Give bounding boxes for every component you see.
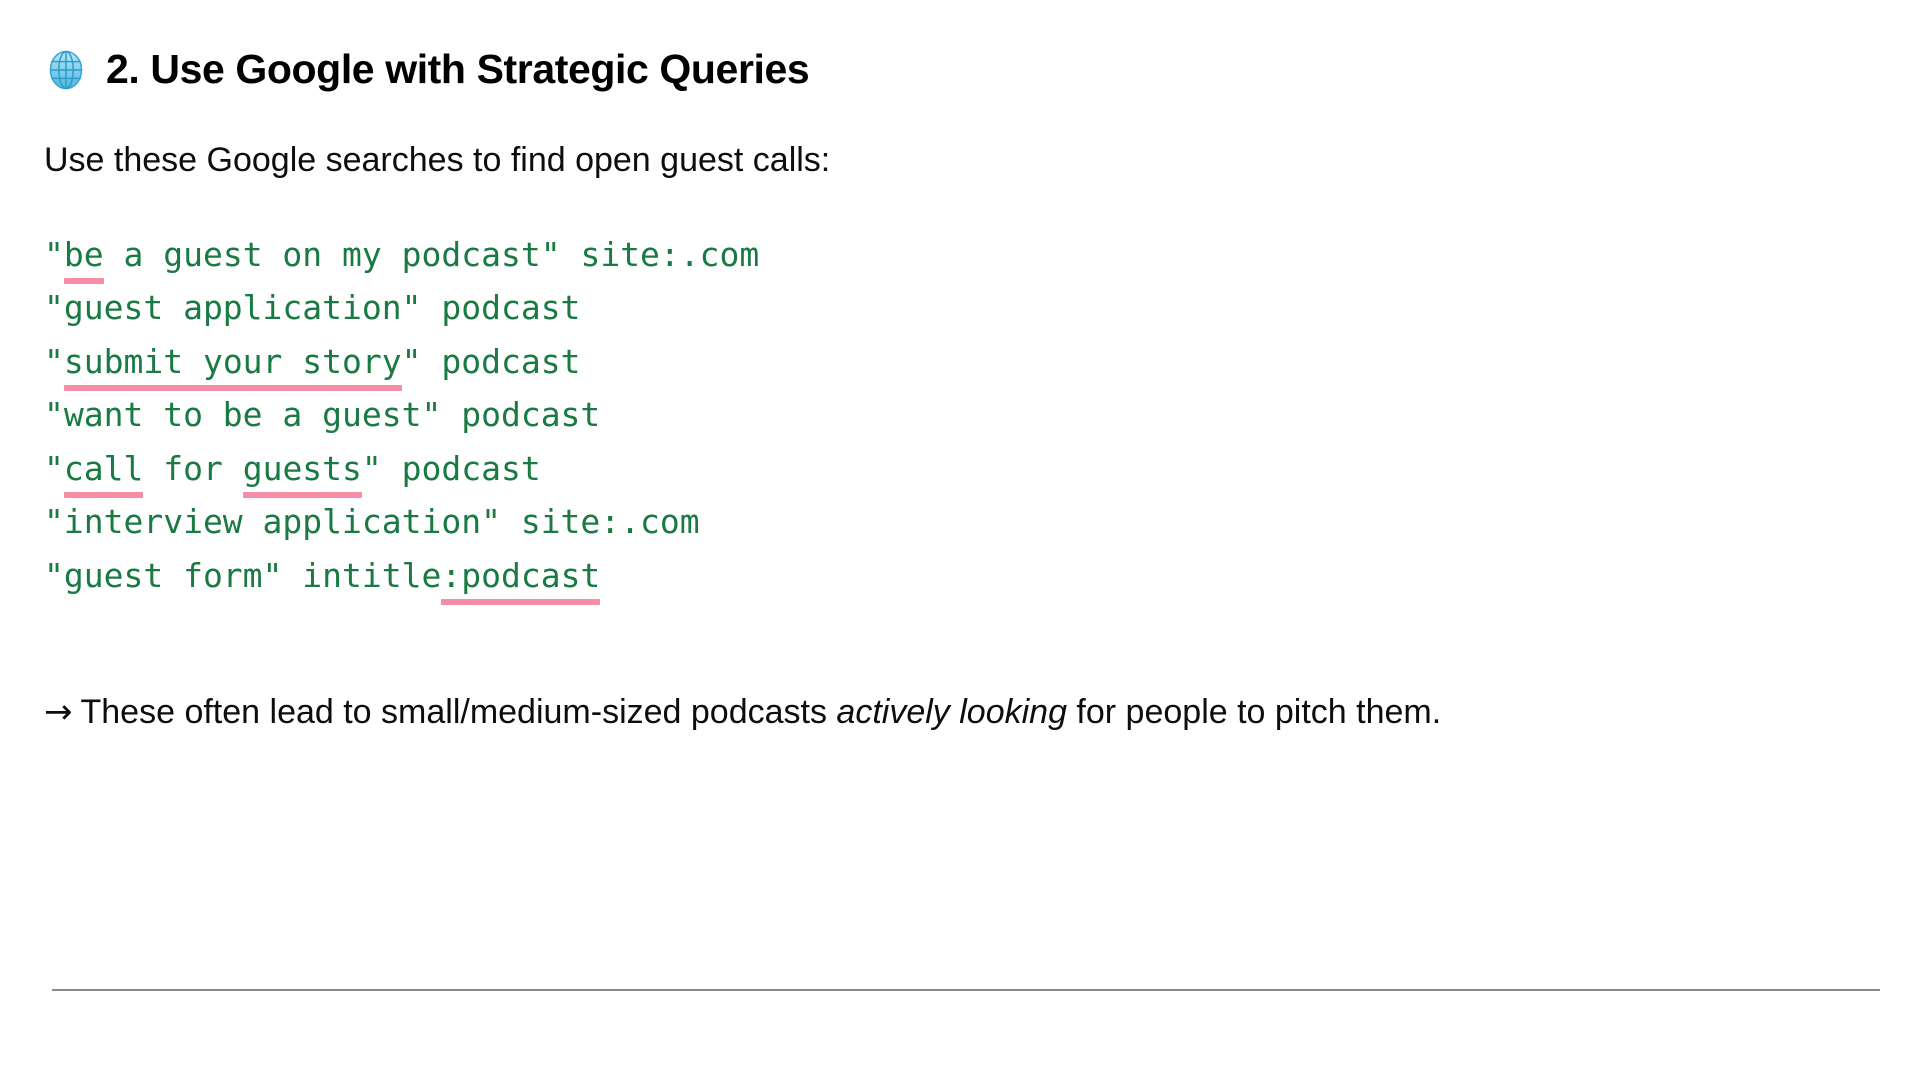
search-query-line[interactable]: "be a guest on my podcast" site:.com bbox=[44, 228, 1880, 282]
highlighted-query-term: call bbox=[64, 442, 143, 496]
search-query-list: "be a guest on my podcast" site:.com"gue… bbox=[40, 228, 1880, 603]
query-text: a guest on my podcast" site:.com bbox=[104, 235, 760, 274]
outro-emphasis: actively looking bbox=[836, 693, 1067, 731]
outro-text-part1: These often lead to small/medium-sized p… bbox=[81, 693, 837, 731]
query-text: "guest application" podcast bbox=[44, 288, 580, 327]
highlighted-query-term: :podcast bbox=[441, 549, 600, 603]
search-query-line[interactable]: "submit your story" podcast bbox=[44, 335, 1880, 389]
search-query-line[interactable]: "guest application" podcast bbox=[44, 281, 1880, 335]
highlighted-query-term: guests bbox=[243, 442, 362, 496]
highlighted-query-term: be bbox=[64, 228, 104, 282]
query-text: for bbox=[143, 449, 242, 488]
query-text: " podcast bbox=[402, 342, 581, 381]
query-text: "want to be a guest" podcast bbox=[44, 395, 600, 434]
arrow-icon: → bbox=[44, 692, 73, 732]
query-text: " bbox=[44, 342, 64, 381]
search-query-line[interactable]: "guest form" intitle:podcast bbox=[44, 549, 1880, 603]
search-query-line[interactable]: "want to be a guest" podcast bbox=[44, 388, 1880, 442]
query-text: "interview application" site:.com bbox=[44, 502, 700, 541]
highlighted-query-term: submit your story bbox=[64, 335, 402, 389]
search-query-line[interactable]: "interview application" site:.com bbox=[44, 495, 1880, 549]
section-heading: 2. Use Google with Strategic Queries bbox=[40, 0, 1880, 92]
outro-text-part2: for people to pitch them. bbox=[1067, 693, 1441, 731]
query-text: " bbox=[44, 449, 64, 488]
document-page: 2. Use Google with Strategic Queries Use… bbox=[0, 0, 1920, 1071]
outro-paragraph: →These often lead to small/medium-sized … bbox=[40, 690, 1880, 736]
search-query-line[interactable]: "call for guests" podcast bbox=[44, 442, 1880, 496]
section-divider bbox=[52, 989, 1880, 991]
query-text: " podcast bbox=[362, 449, 541, 488]
globe-icon bbox=[44, 48, 88, 92]
page-title: 2. Use Google with Strategic Queries bbox=[106, 47, 809, 92]
query-text: " bbox=[44, 235, 64, 274]
intro-paragraph: Use these Google searches to find open g… bbox=[40, 138, 1880, 184]
query-text: "guest form" intitle bbox=[44, 556, 441, 595]
